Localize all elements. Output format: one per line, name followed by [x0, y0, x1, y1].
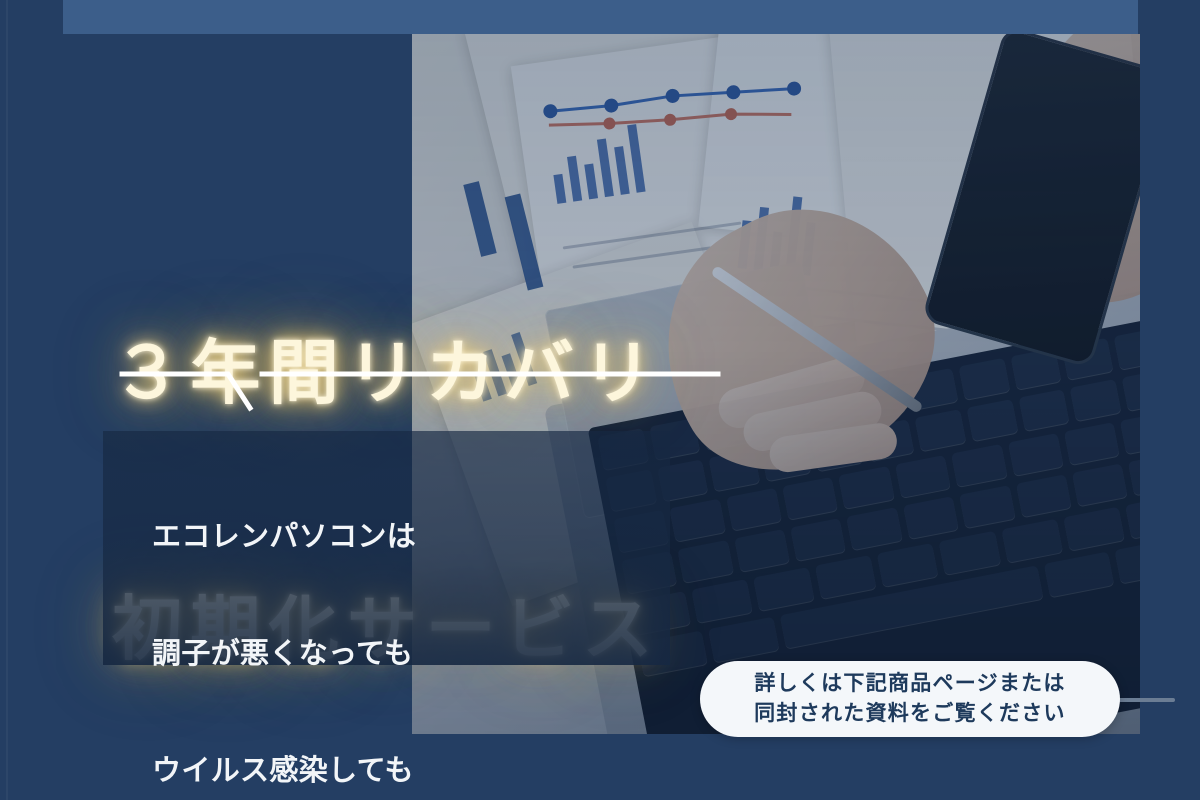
left-edge-accent-line: [6, 0, 8, 800]
body-copy: エコレンパソコンは 調子が悪くなっても ウイルス感染しても 設定を狂わせてしまっ…: [152, 440, 692, 800]
copy-line-1: エコレンパソコンは: [152, 518, 692, 557]
callout-line-2: 同封された資料をご覧ください: [754, 699, 1066, 729]
callout-line-1: 詳しくは下記商品ページまたは: [754, 669, 1065, 699]
top-band: [63, 0, 1138, 34]
copy-line-3: ウイルス感染しても: [152, 752, 692, 791]
decorative-bracket-rule: [110, 352, 730, 432]
copy-line-2: 調子が悪くなっても: [152, 635, 692, 674]
promo-banner: ３年間リカバリ 初期化サービス エコレンパソコンは 調子が悪くなっても ウイルス…: [0, 0, 1200, 800]
callout-pill: 詳しくは下記商品ページまたは 同封された資料をご覧ください: [700, 661, 1120, 737]
